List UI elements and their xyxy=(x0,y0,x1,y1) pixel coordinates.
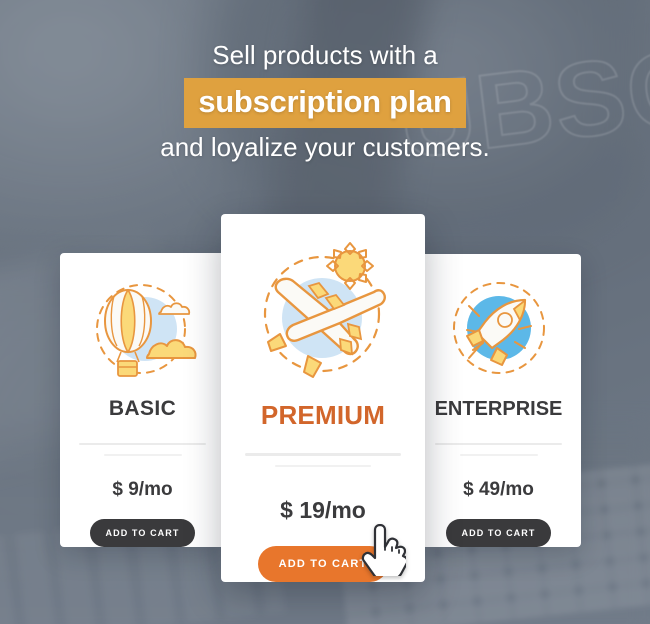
plan-price: $ 19/mo xyxy=(280,497,366,524)
plan-price: $ 9/mo xyxy=(112,479,172,501)
plan-title: ENTERPRISE xyxy=(435,398,563,421)
airplane-sun-icon xyxy=(248,238,398,386)
feature-placeholder-bar xyxy=(79,443,206,445)
feature-placeholder-bar xyxy=(104,454,182,456)
headline-highlight-row: subscription plan xyxy=(0,78,650,128)
feature-placeholder-bar xyxy=(460,454,538,456)
headline-line-1: Sell products with a xyxy=(0,40,650,72)
headline: Sell products with a subscription plan a… xyxy=(0,40,650,163)
feature-placeholder-bar xyxy=(275,465,371,468)
pricing-card-basic[interactable]: BASIC $ 9/mo ADD TO CART xyxy=(60,253,225,547)
add-to-cart-button[interactable]: ADD TO CART xyxy=(446,519,551,547)
plan-price: $ 49/mo xyxy=(463,479,534,501)
rocket-icon xyxy=(439,272,559,388)
pricing-card-enterprise[interactable]: ENTERPRISE $ 49/mo ADD TO CART xyxy=(416,254,581,547)
pointing-hand-cursor xyxy=(360,524,406,576)
promo-banner: UBSC Sell products with a subscription p… xyxy=(0,0,650,624)
plan-title: BASIC xyxy=(109,397,176,421)
headline-highlight: subscription plan xyxy=(184,78,465,128)
headline-line-3: and loyalize your customers. xyxy=(0,132,650,164)
feature-placeholder-bar xyxy=(435,443,562,445)
plan-title: PREMIUM xyxy=(261,400,385,431)
hot-air-balloon-icon xyxy=(83,271,203,387)
add-to-cart-button[interactable]: ADD TO CART xyxy=(90,519,195,547)
feature-placeholder-bar xyxy=(245,453,401,456)
